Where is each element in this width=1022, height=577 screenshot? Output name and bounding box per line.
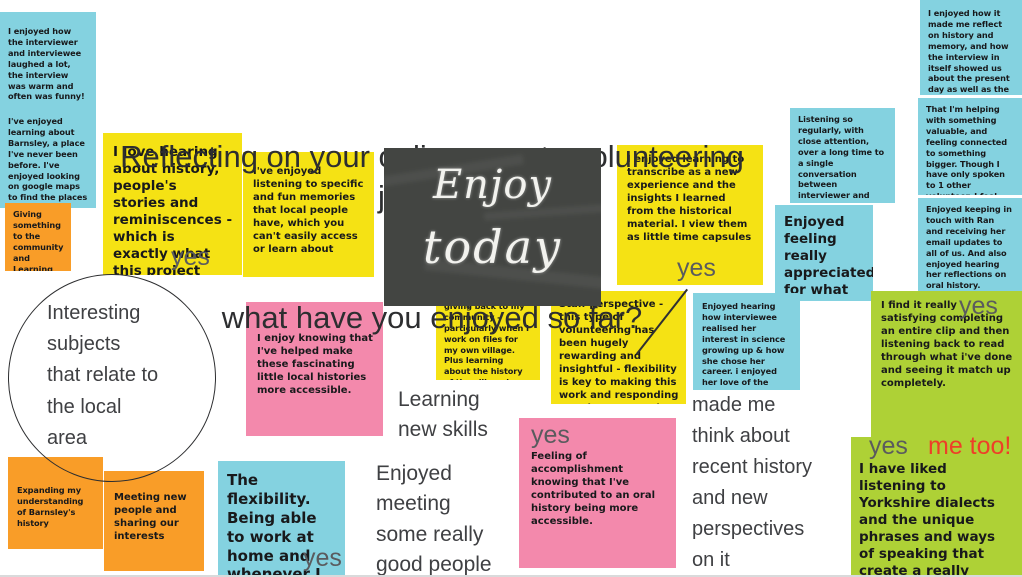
annotation-yes[interactable]: yes: [677, 256, 716, 281]
annotation-yes[interactable]: yes: [171, 245, 210, 270]
sticky-note[interactable]: Meeting new people and sharing our inter…: [104, 471, 204, 571]
sticky-note[interactable]: Giving something to the community and Le…: [5, 203, 71, 271]
sticky-note[interactable]: I enjoyed how the interviewer and interv…: [0, 12, 96, 110]
chalk-word-enjoy: Enjoy: [384, 162, 601, 208]
sticky-note[interactable]: I find it really satisfying completing a…: [871, 291, 1022, 441]
canvas-text[interactable]: Enjoyed meeting some really good people: [376, 459, 556, 577]
sticky-note[interactable]: Listening so regularly, with close atten…: [790, 108, 895, 203]
chalk-word-today: today: [384, 220, 601, 274]
canvas-text[interactable]: Interesting subjects that relate to the …: [47, 298, 217, 454]
annotation-yes[interactable]: yes: [303, 546, 342, 571]
sticky-note[interactable]: I've enjoyed learning about Barnsley, a …: [0, 110, 96, 208]
annotation-me-too[interactable]: me too!: [928, 434, 1011, 459]
sticky-note[interactable]: Enjoyed feeling really appreciated for w…: [775, 205, 873, 301]
annotation-yes[interactable]: yes: [869, 434, 908, 459]
annotation-yes[interactable]: yes: [959, 294, 998, 319]
canvas-text[interactable]: made me think about recent history and n…: [692, 390, 857, 576]
chalkboard-image: Enjoy today: [384, 148, 601, 306]
sticky-note[interactable]: Enjoyed keeping in touch with Ran and re…: [918, 198, 1022, 292]
whiteboard-canvas[interactable]: I enjoyed how the interviewer and interv…: [0, 0, 1022, 577]
sticky-note[interactable]: That I'm helping with something valuable…: [918, 98, 1022, 195]
sticky-note[interactable]: I enjoyed how it made me reflect on hist…: [920, 0, 1022, 95]
annotation-yes[interactable]: yes: [531, 423, 570, 448]
